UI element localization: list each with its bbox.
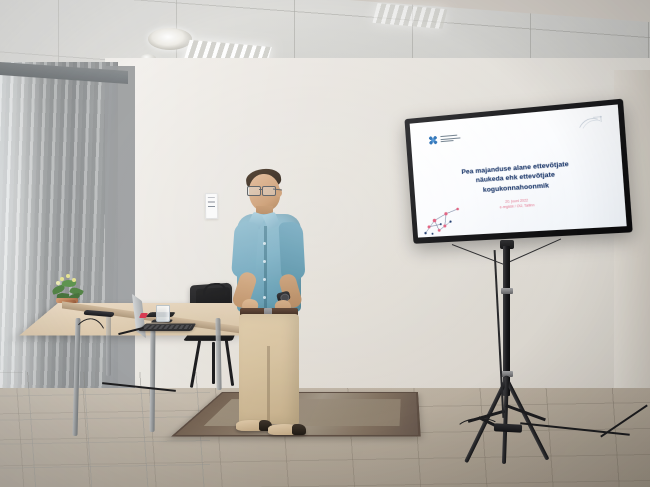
shirt-sleeve-left (231, 221, 259, 279)
tv-screen[interactable]: Pea majanduse alane ettevõtjate näukeda … (410, 104, 627, 237)
presentation-display[interactable]: Pea majanduse alane ettevõtjate näukeda … (404, 99, 632, 244)
water-glass (156, 305, 170, 322)
presenter-shoe-left (236, 420, 272, 431)
logo-wordmark (440, 135, 460, 143)
presenter-figure (220, 168, 328, 438)
presenter-shoe-right (268, 424, 306, 435)
shirt-sleeve-right (278, 221, 305, 280)
tripod-height-clamp[interactable] (501, 288, 513, 294)
eyeglasses-icon (247, 186, 277, 194)
power-supply-brick (494, 423, 522, 432)
room-photo-scene: Pea majanduse alane ettevõtjate näukeda … (0, 0, 650, 487)
laptop-keyboard[interactable] (138, 323, 196, 330)
network-dot-graphic (419, 200, 467, 237)
trouser-seam (267, 346, 270, 424)
table-leg (150, 330, 156, 432)
chair-leg (212, 342, 215, 384)
organisation-logo (428, 133, 460, 145)
slide-title: Pea majanduse alane ettevõtjate näukeda … (429, 157, 606, 199)
corner-watermark-icon (577, 114, 606, 130)
logo-mark-icon (428, 135, 438, 145)
paper-notice (205, 193, 218, 219)
recessed-downlight-icon (148, 28, 192, 50)
